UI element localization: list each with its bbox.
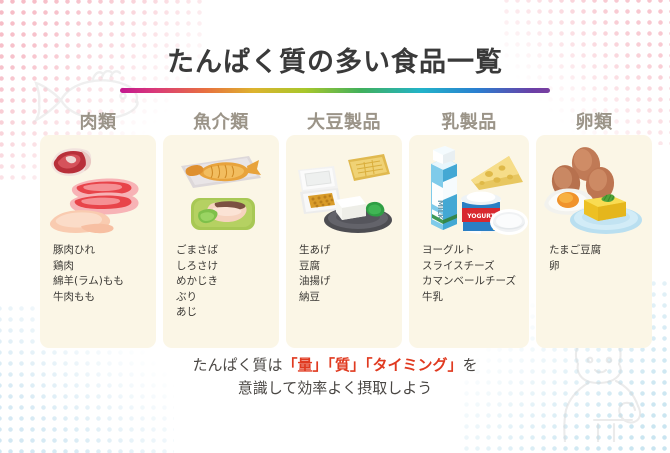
list-item: しろさけ: [176, 259, 279, 275]
list-item: あじ: [176, 305, 279, 321]
footer-message: たんぱく質は「量」「質」「タイミング」を 意識して効率よく摂取しよう: [0, 354, 670, 400]
list-item: 生あげ: [299, 243, 402, 259]
category-card-fish[interactable]: 魚介類: [163, 135, 279, 348]
list-item: たまご豆腐: [549, 243, 652, 259]
page-title: たんぱく質の多い食品一覧: [0, 40, 670, 79]
category-header-dairy: 乳製品: [409, 108, 529, 134]
natto-pack: [298, 166, 342, 214]
footer-highlight-quantity: 「量」: [282, 356, 327, 374]
list-item: 納豆: [299, 290, 402, 306]
category-header-fish: 魚介類: [163, 108, 279, 134]
fried-tofu: [348, 154, 390, 181]
food-list-egg: たまご豆腐 卵: [536, 241, 652, 274]
list-item: 綿羊(ラム)もも: [53, 274, 156, 290]
category-header-egg: 卵類: [536, 108, 652, 134]
list-item: 牛肉もも: [53, 290, 156, 306]
soy-products-illustration: [286, 135, 402, 241]
footer-line-2: 意識して効率よく摂取しよう: [0, 377, 670, 400]
list-item: 豆腐: [299, 259, 402, 275]
cheese-wedge: [471, 156, 523, 190]
egg-illustration: [536, 135, 652, 241]
list-item: スライスチーズ: [422, 259, 529, 275]
category-card-meat[interactable]: 肉類: [40, 135, 156, 348]
footer-suffix: を: [463, 356, 478, 374]
category-header-soy: 大豆製品: [286, 108, 402, 134]
ham-slice: [51, 148, 91, 176]
food-list-dairy: ヨーグルト スライスチーズ カマンベールチーズ 牛乳: [409, 241, 529, 305]
list-item: めかじき: [176, 274, 279, 290]
list-item: 卵: [549, 259, 652, 275]
milk-carton: MILK: [431, 146, 457, 230]
dairy-illustration: MILK: [409, 135, 529, 241]
fish-illustration: [163, 135, 279, 241]
pork-chops: [70, 179, 139, 215]
list-item: ヨーグルト: [422, 243, 529, 259]
food-category-columns: 肉類: [40, 135, 632, 348]
list-item: ぶり: [176, 290, 279, 306]
meat-illustration: [40, 135, 156, 241]
sashimi-on-green-plate: [191, 198, 255, 230]
bowl: [490, 209, 528, 235]
footer-prefix: たんぱく質は: [192, 356, 282, 374]
footer-highlight-quality: 「質」: [327, 356, 365, 374]
category-header-meat: 肉類: [40, 108, 156, 134]
grilled-fish-on-plate: [181, 156, 261, 188]
list-item: 豚肉ひれ: [53, 243, 156, 259]
footer-highlight-timing: 「タイミング」: [365, 356, 463, 374]
category-card-egg[interactable]: 卵類: [536, 135, 652, 348]
list-item: カマンベールチーズ: [422, 274, 529, 290]
list-item: 牛乳: [422, 290, 529, 306]
food-list-soy: 生あげ 豆腐 油揚げ 納豆: [286, 241, 402, 305]
list-item: 油揚げ: [299, 274, 402, 290]
list-item: 鶏肉: [53, 259, 156, 275]
food-list-fish: ごまさば しろさけ めかじき ぶり あじ: [163, 241, 279, 321]
food-list-meat: 豚肉ひれ 鶏肉 綿羊(ラム)もも 牛肉もも: [40, 241, 156, 305]
list-item: ごまさば: [176, 243, 279, 259]
page-title-wrap: たんぱく質の多い食品一覧: [0, 40, 670, 79]
footer-line-1: たんぱく質は「量」「質」「タイミング」を: [0, 354, 670, 377]
category-card-dairy[interactable]: 乳製品 MILK: [409, 135, 529, 348]
rainbow-gradient-bar: [120, 88, 550, 93]
infographic-canvas: たんぱく質の多い食品一覧 肉類: [0, 0, 670, 447]
category-card-soy[interactable]: 大豆製品: [286, 135, 402, 348]
